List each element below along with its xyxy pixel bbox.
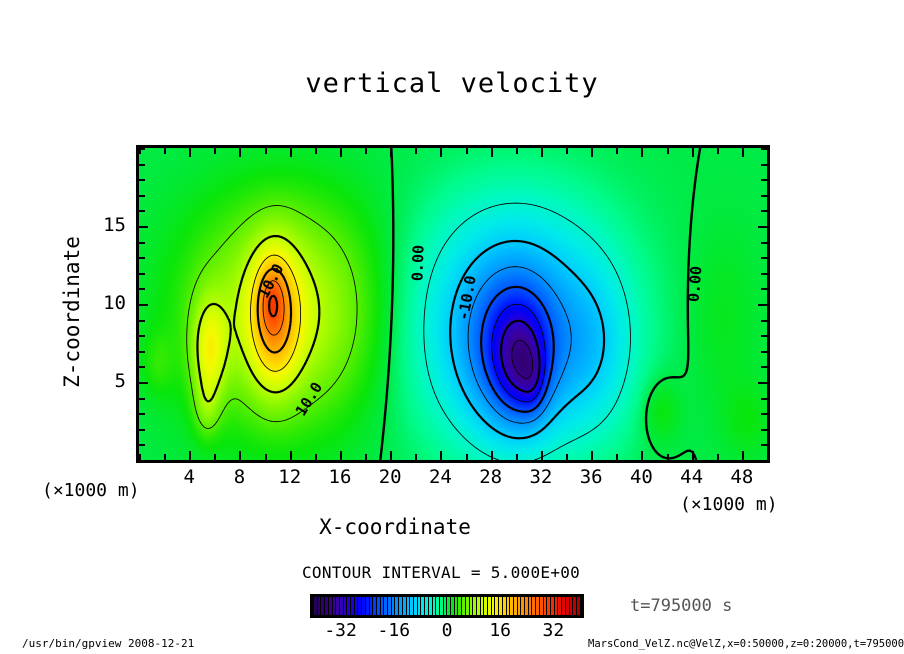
x-tick-label-48: 48 bbox=[712, 466, 772, 488]
y-tick-right-16 bbox=[761, 210, 767, 212]
x-tick-38 bbox=[616, 454, 618, 460]
y-tick-right-11 bbox=[761, 288, 767, 290]
x-axis-title: X-coordinate bbox=[0, 515, 790, 539]
y-tick-right-0 bbox=[761, 460, 767, 462]
time-annotation: t=795000 s bbox=[630, 596, 732, 616]
x-unit-right: (×1000 m) bbox=[680, 494, 778, 515]
y-tick-9 bbox=[139, 320, 145, 322]
x-tick-top-26 bbox=[466, 148, 468, 154]
x-tick-top-36 bbox=[591, 148, 593, 157]
x-tick-top-4 bbox=[189, 148, 191, 157]
x-tick-14 bbox=[315, 454, 317, 460]
y-tick-right-12 bbox=[761, 273, 767, 275]
contour-level-5 bbox=[187, 206, 357, 429]
y-tick-15 bbox=[139, 226, 148, 228]
x-tick-top-30 bbox=[516, 148, 518, 154]
x-tick-top-50 bbox=[767, 148, 769, 154]
x-tick-30 bbox=[516, 454, 518, 460]
y-tick-right-17 bbox=[761, 195, 767, 197]
chart-title: vertical velocity bbox=[0, 68, 904, 99]
x-tick-44 bbox=[692, 451, 694, 460]
y-tick-label-10: 10 bbox=[86, 292, 126, 314]
x-tick-6 bbox=[214, 454, 216, 460]
contour-label: 0.00 bbox=[685, 265, 706, 303]
x-tick-top-34 bbox=[566, 148, 568, 154]
y-tick-7 bbox=[139, 351, 145, 353]
y-tick-0 bbox=[139, 460, 145, 462]
x-tick-top-38 bbox=[616, 148, 618, 154]
x-unit-left: (×1000 m) bbox=[42, 480, 140, 501]
y-tick-18 bbox=[139, 179, 145, 181]
colorbar-tick-label--16: -16 bbox=[372, 620, 416, 641]
y-tick-right-19 bbox=[761, 164, 767, 166]
contour-level--35 bbox=[512, 340, 533, 378]
y-tick-right-8 bbox=[761, 335, 767, 337]
x-tick-34 bbox=[566, 454, 568, 460]
colorbar-tick-label-32: 32 bbox=[531, 620, 575, 641]
x-tick-32 bbox=[541, 451, 543, 460]
y-tick-13 bbox=[139, 257, 145, 259]
contour-level--30 bbox=[501, 321, 539, 392]
y-tick-right-7 bbox=[761, 351, 767, 353]
x-tick-28 bbox=[491, 451, 493, 460]
y-tick-2 bbox=[139, 429, 145, 431]
x-tick-50 bbox=[767, 454, 769, 460]
colorbar-cell bbox=[577, 597, 580, 615]
y-tick-label-15: 15 bbox=[86, 214, 126, 236]
colorbar-tick-label--32: -32 bbox=[319, 620, 363, 641]
y-tick-10 bbox=[139, 304, 148, 306]
x-tick-42 bbox=[667, 454, 669, 460]
x-tick-top-18 bbox=[365, 148, 367, 154]
x-tick-top-46 bbox=[717, 148, 719, 154]
y-tick-8 bbox=[139, 335, 145, 337]
y-tick-3 bbox=[139, 413, 145, 415]
y-tick-right-2 bbox=[761, 429, 767, 431]
y-tick-16 bbox=[139, 210, 145, 212]
contour-level--15 bbox=[468, 267, 571, 423]
contour-interval-label: CONTOUR INTERVAL = 5.000E+00 bbox=[302, 563, 580, 582]
y-tick-label-5: 5 bbox=[86, 370, 126, 392]
y-tick-19 bbox=[139, 164, 145, 166]
x-tick-18 bbox=[365, 454, 367, 460]
y-tick-right-1 bbox=[761, 444, 767, 446]
x-tick-top-42 bbox=[667, 148, 669, 154]
x-tick-top-22 bbox=[415, 148, 417, 154]
y-tick-right-14 bbox=[761, 242, 767, 244]
y-tick-1 bbox=[139, 444, 145, 446]
y-tick-right-10 bbox=[758, 304, 767, 306]
y-tick-right-9 bbox=[761, 320, 767, 322]
colorbar-tick-label-16: 16 bbox=[478, 620, 522, 641]
x-tick-top-2 bbox=[164, 148, 166, 154]
x-tick-top-32 bbox=[541, 148, 543, 157]
x-tick-4 bbox=[189, 451, 191, 460]
x-tick-40 bbox=[641, 451, 643, 460]
y-tick-6 bbox=[139, 366, 145, 368]
y-tick-right-20 bbox=[761, 148, 767, 150]
y-tick-14 bbox=[139, 242, 145, 244]
x-tick-top-8 bbox=[239, 148, 241, 157]
y-tick-5 bbox=[139, 382, 148, 384]
x-tick-24 bbox=[440, 451, 442, 460]
x-tick-2 bbox=[164, 454, 166, 460]
x-tick-top-10 bbox=[265, 148, 267, 154]
x-tick-top-16 bbox=[340, 148, 342, 157]
x-tick-top-20 bbox=[390, 148, 392, 157]
colorbar-tick-label-0: 0 bbox=[425, 620, 469, 641]
x-tick-12 bbox=[290, 451, 292, 460]
x-tick-10 bbox=[265, 454, 267, 460]
y-tick-right-5 bbox=[758, 382, 767, 384]
y-tick-right-6 bbox=[761, 366, 767, 368]
program-footer: /usr/bin/gpview 2008-12-21 bbox=[22, 637, 194, 650]
x-tick-top-44 bbox=[692, 148, 694, 157]
y-tick-20 bbox=[139, 148, 145, 150]
y-tick-right-18 bbox=[761, 179, 767, 181]
x-tick-top-24 bbox=[440, 148, 442, 157]
y-tick-right-15 bbox=[758, 226, 767, 228]
y-tick-right-3 bbox=[761, 413, 767, 415]
colorbar bbox=[310, 594, 584, 618]
y-axis-title: Z-coordinate bbox=[60, 212, 84, 412]
y-tick-17 bbox=[139, 195, 145, 197]
x-tick-20 bbox=[390, 451, 392, 460]
y-tick-right-13 bbox=[761, 257, 767, 259]
contour-level--25 bbox=[492, 304, 546, 402]
x-tick-48 bbox=[742, 451, 744, 460]
x-tick-top-48 bbox=[742, 148, 744, 157]
source-footer: MarsCond_VelZ.nc@VelZ,x=0:50000,z=0:2000… bbox=[588, 638, 904, 650]
y-tick-right-4 bbox=[761, 398, 767, 400]
x-tick-22 bbox=[415, 454, 417, 460]
y-tick-11 bbox=[139, 288, 145, 290]
contour-level-0 bbox=[380, 148, 700, 460]
x-tick-26 bbox=[466, 454, 468, 460]
x-tick-top-6 bbox=[214, 148, 216, 154]
y-tick-4 bbox=[139, 398, 145, 400]
contour-lines bbox=[139, 148, 767, 460]
x-tick-46 bbox=[717, 454, 719, 460]
x-tick-36 bbox=[591, 451, 593, 460]
x-tick-top-14 bbox=[315, 148, 317, 154]
colorbar-cells bbox=[314, 597, 580, 615]
y-tick-12 bbox=[139, 273, 145, 275]
plot-area bbox=[136, 145, 770, 463]
x-tick-top-28 bbox=[491, 148, 493, 157]
x-tick-8 bbox=[239, 451, 241, 460]
x-tick-top-12 bbox=[290, 148, 292, 157]
x-tick-16 bbox=[340, 451, 342, 460]
x-tick-top-40 bbox=[641, 148, 643, 157]
contour-level--10 bbox=[450, 241, 604, 438]
contour-label: 0.00 bbox=[408, 245, 427, 282]
